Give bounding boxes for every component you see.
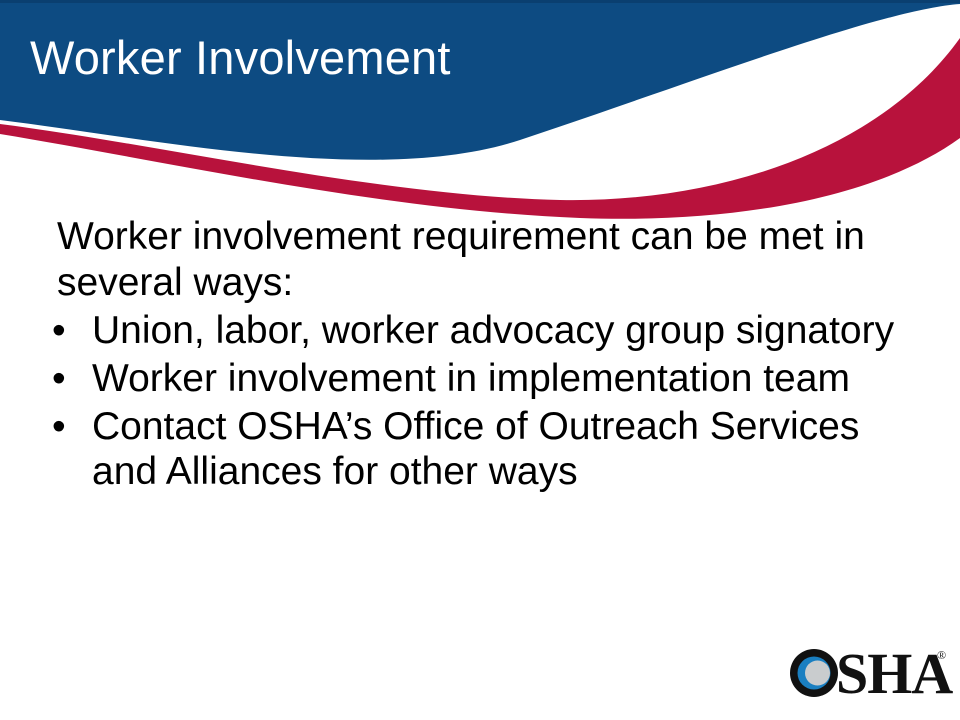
bullet-list: • Union, labor, worker advocacy group si… [48, 308, 928, 495]
list-item-label: Contact OSHA’s Office of Outreach Servic… [92, 404, 928, 495]
osha-logo: SHA ® [789, 643, 953, 703]
bullet-icon: • [52, 308, 74, 354]
list-item-label: Worker involvement in implementation tea… [92, 356, 928, 402]
list-item: • Union, labor, worker advocacy group si… [48, 308, 928, 354]
list-item: • Worker involvement in implementation t… [48, 356, 928, 402]
list-item-label: Union, labor, worker advocacy group sign… [92, 308, 928, 354]
list-item: • Contact OSHA’s Office of Outreach Serv… [48, 404, 928, 495]
bullet-icon: • [52, 356, 74, 402]
intro-paragraph: Worker involvement requirement can be me… [57, 214, 909, 305]
banner-top-line [0, 0, 960, 3]
slide-canvas: Worker Involvement Worker involvement re… [0, 0, 960, 720]
osha-wordmark: SHA [836, 643, 953, 703]
osha-o-mark [790, 649, 838, 697]
registered-trademark-icon: ® [937, 648, 946, 662]
bullet-icon: • [52, 404, 74, 450]
page-title: Worker Involvement [30, 33, 790, 84]
slide-body: Worker involvement requirement can be me… [48, 214, 928, 497]
